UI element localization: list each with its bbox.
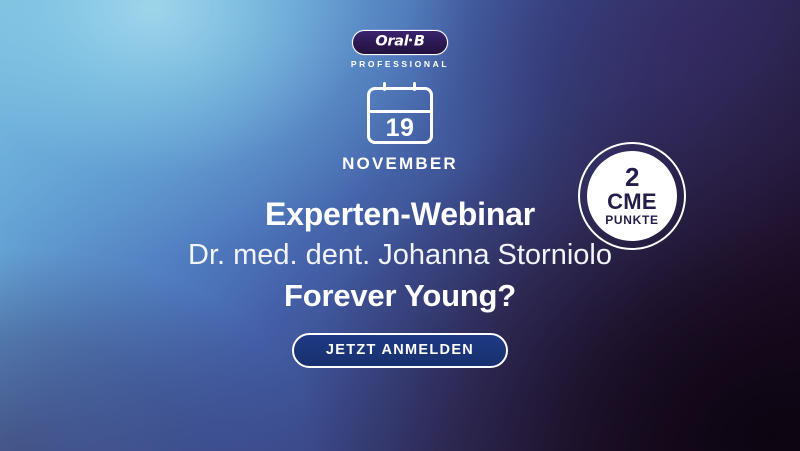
- oralb-logo-word-left: Oral: [375, 34, 408, 50]
- oralb-logo-dot: [409, 39, 412, 42]
- cme-badge-inner: 2 CME PUNKTE: [587, 151, 677, 241]
- register-now-button[interactable]: JETZT ANMELDEN: [292, 333, 508, 368]
- oralb-logo-pill: OralB: [352, 30, 448, 55]
- banner-content: OralB PROFESSIONAL 19 NOVEMBER Experten-…: [0, 0, 800, 451]
- oralb-logo-word-right: B: [414, 34, 425, 50]
- calendar-icon-body: 19: [367, 87, 433, 144]
- calendar-icon: 19: [367, 82, 433, 144]
- cme-program-label: CME: [607, 190, 657, 213]
- event-day-number: 19: [370, 112, 430, 144]
- webinar-promo-banner: 2 CME PUNKTE OralB PROFESSIONAL 19 NOVEM…: [0, 0, 800, 451]
- cme-unit-label: PUNKTE: [605, 213, 659, 227]
- headline-title: Forever Young?: [0, 276, 800, 316]
- event-month-label: NOVEMBER: [342, 155, 458, 172]
- cme-points-badge: 2 CME PUNKTE: [578, 142, 686, 250]
- event-date-block: 19 NOVEMBER: [342, 82, 458, 172]
- cme-points-value: 2: [625, 165, 639, 190]
- oralb-logo-tagline: PROFESSIONAL: [351, 60, 449, 69]
- headline-speaker: Dr. med. dent. Johanna Storniolo: [0, 234, 800, 276]
- oralb-logo-wordmark: OralB: [375, 35, 424, 50]
- oralb-logo: OralB PROFESSIONAL: [351, 30, 449, 69]
- cta-container: JETZT ANMELDEN: [0, 333, 800, 368]
